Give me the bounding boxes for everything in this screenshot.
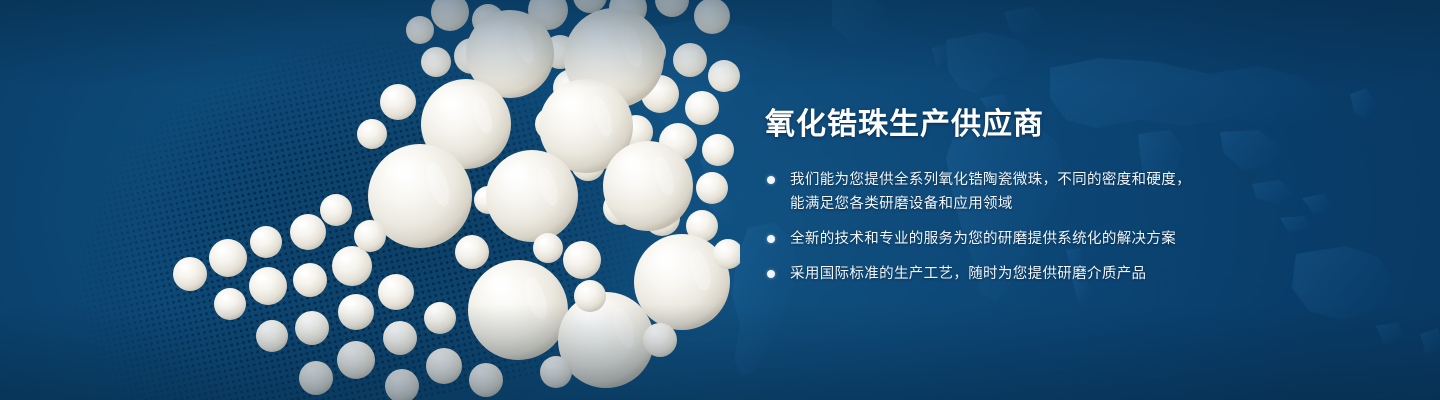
banner-copy: 氧化锆珠生产供应商 我们能为您提供全系列氧化锆陶瓷微珠，不同的密度和硬度， 能满…: [765, 108, 1285, 286]
list-item: 全新的技术和专业的服务为您的研磨提供系统化的解决方案: [765, 227, 1285, 251]
feature-list: 我们能为您提供全系列氧化锆陶瓷微珠，不同的密度和硬度， 能满足您各类研磨设备和应…: [765, 168, 1285, 286]
list-item-line: 全新的技术和专业的服务为您的研磨提供系统化的解决方案: [790, 227, 1285, 251]
bullet-dot-icon: [767, 176, 775, 184]
list-item: 我们能为您提供全系列氧化锆陶瓷微珠，不同的密度和硬度， 能满足您各类研磨设备和应…: [765, 168, 1285, 216]
bullet-dot-icon: [767, 235, 775, 243]
list-item-line: 采用国际标准的生产工艺，随时为您提供研磨介质产品: [790, 262, 1285, 286]
list-item-line: 我们能为您提供全系列氧化锆陶瓷微珠，不同的密度和硬度，: [790, 168, 1285, 192]
hero-banner: 氧化锆珠生产供应商 我们能为您提供全系列氧化锆陶瓷微珠，不同的密度和硬度， 能满…: [0, 0, 1440, 400]
page-title: 氧化锆珠生产供应商: [765, 108, 1285, 142]
list-item-line: 能满足您各类研磨设备和应用领域: [790, 192, 1285, 216]
bullet-dot-icon: [767, 270, 775, 278]
list-item: 采用国际标准的生产工艺，随时为您提供研磨介质产品: [765, 262, 1285, 286]
